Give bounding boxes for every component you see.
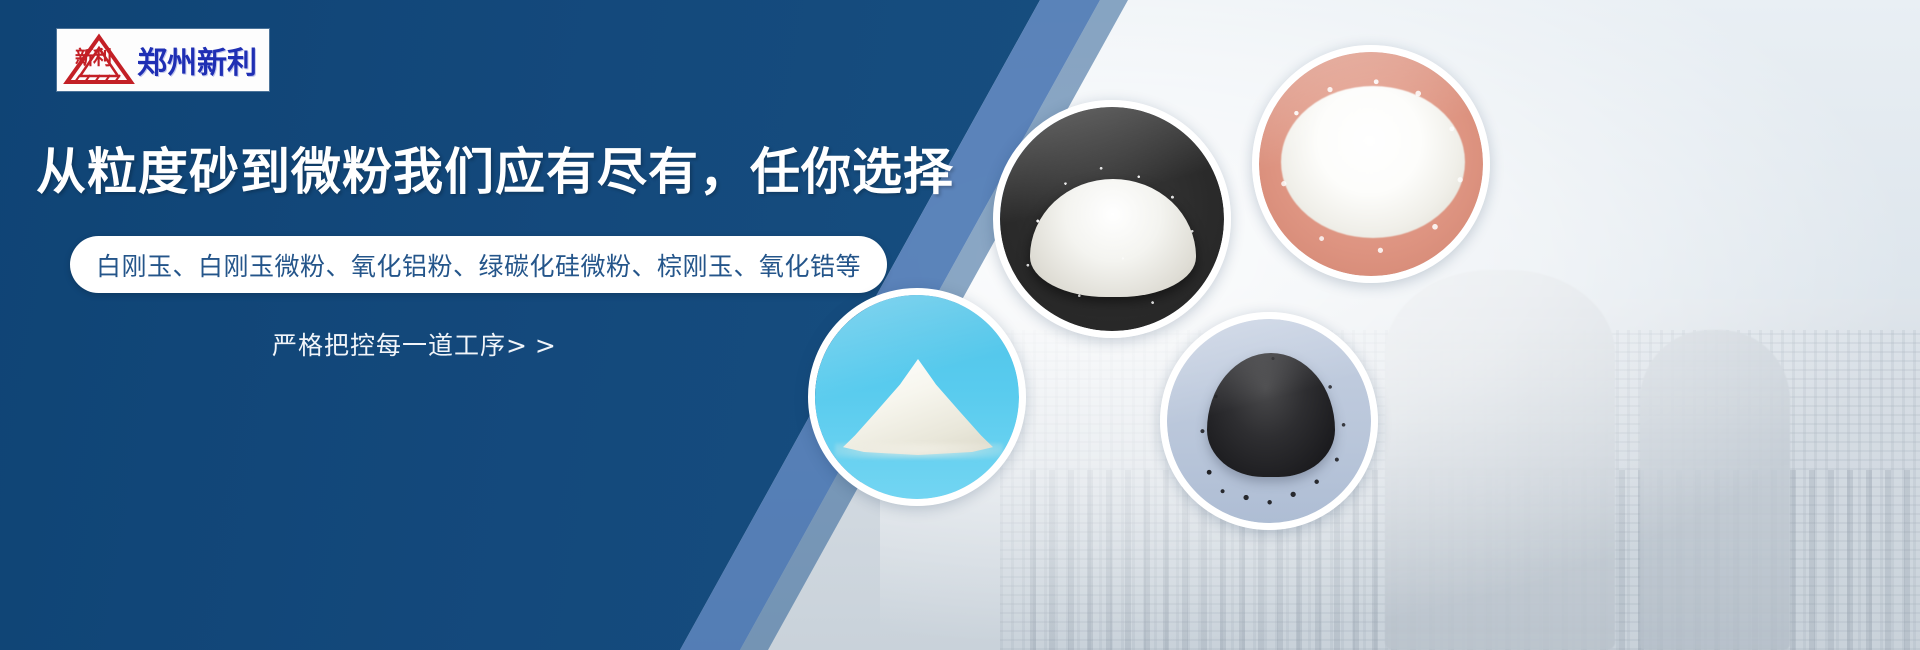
cone-base-dust: [835, 443, 1003, 459]
powder-grain-scatter: [1014, 153, 1212, 323]
powder-cone-white: [843, 357, 993, 455]
product-photo-white-alumina-micropowder[interactable]: [1252, 45, 1490, 283]
headline: 从粒度砂到微粉我们应有尽有，任你选择: [36, 147, 954, 197]
logo-mark-label: 新利: [75, 49, 111, 68]
process-link[interactable]: 严格把控每一道工序> >: [272, 326, 556, 362]
product-backdrop-palegray: [1167, 319, 1371, 523]
product-list-pill[interactable]: 白刚玉、白刚玉微粉、氧化铝粉、绿碳化硅微粉、棕刚玉、氧化锆等: [70, 236, 887, 293]
logo-company-name: 郑州新利: [137, 38, 257, 82]
triangle-logo-icon: 新利: [63, 32, 135, 88]
powder-dust-scatter: [1267, 70, 1477, 266]
product-backdrop-lightblue: [815, 295, 1019, 499]
product-list-text: 白刚玉、白刚玉微粉、氧化铝粉、绿碳化硅微粉、棕刚玉、氧化锆等: [96, 247, 861, 283]
process-link-label: 严格把控每一道工序: [272, 331, 506, 360]
grit-scatter-black: [1189, 349, 1357, 507]
product-photo-alumina-powder[interactable]: [808, 288, 1026, 506]
process-link-arrows: > >: [506, 331, 556, 360]
company-logo[interactable]: 新利 郑州新利: [57, 29, 269, 91]
product-photo-white-fused-alumina-grit[interactable]: [993, 100, 1231, 338]
product-dish-dark: [1000, 107, 1224, 331]
product-photo-green-silicon-carbide[interactable]: [1160, 312, 1378, 530]
promo-banner: 新利 郑州新利 从粒度砂到微粉我们应有尽有，任你选择 白刚玉、白刚玉微粉、氧化铝…: [0, 0, 1920, 650]
product-dish-pink: [1259, 52, 1483, 276]
